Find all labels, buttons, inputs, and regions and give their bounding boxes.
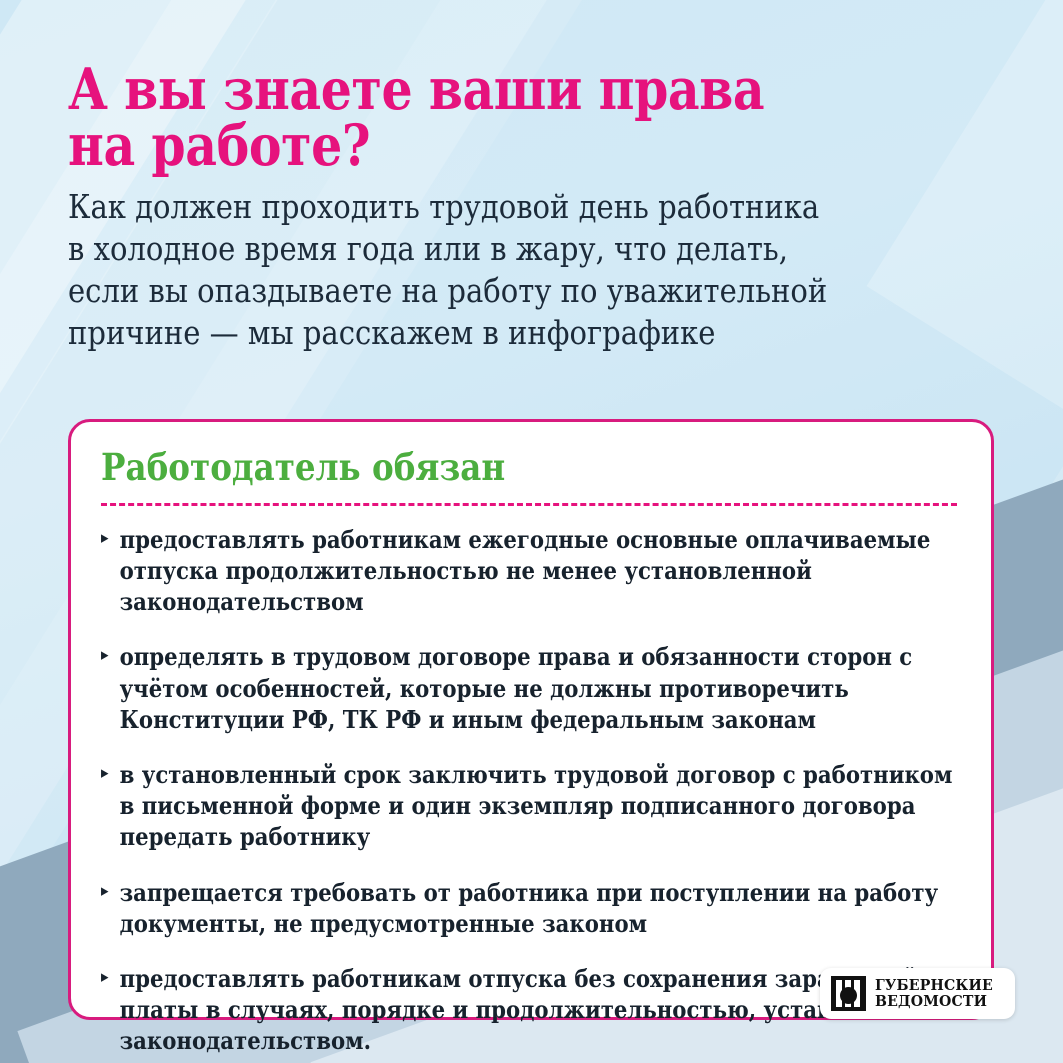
triangle-bullet-icon: ▸ bbox=[101, 963, 109, 993]
list-item-text: предоставлять работникам ежегодные основ… bbox=[120, 525, 931, 616]
card-heading: Работодатель обязан bbox=[101, 448, 858, 487]
poster-header: А вы знаете ваши права на работе? Как до… bbox=[68, 62, 988, 355]
triangle-bullet-icon: ▸ bbox=[101, 759, 109, 789]
publisher-logo-text: ГУБЕРНСКИЕ ВЕДОМОСТИ bbox=[875, 978, 993, 1010]
list-item-text: в установленный срок заключить трудовой … bbox=[120, 760, 953, 851]
list-item: ▸ в установленный срок заключить трудово… bbox=[101, 759, 972, 853]
dashed-divider bbox=[101, 503, 957, 506]
content-card: Работодатель обязан ▸ предоставлять рабо… bbox=[68, 419, 994, 1020]
publisher-logo-line2: ВЕДОМОСТИ bbox=[875, 994, 993, 1010]
publisher-logo: ГУБЕРНСКИЕ ВЕДОМОСТИ bbox=[820, 968, 1015, 1019]
infographic-poster: А вы знаете ваши права на работе? Как до… bbox=[0, 0, 1063, 1063]
list-item-text: запрещается требовать от работника при п… bbox=[120, 878, 938, 938]
page-subtitle: Как должен проходить трудовой день работ… bbox=[68, 186, 878, 355]
content-card-inner: Работодатель обязан ▸ предоставлять рабо… bbox=[71, 422, 991, 1063]
triangle-bullet-icon: ▸ bbox=[101, 877, 109, 907]
page-title: А вы знаете ваши права на работе? bbox=[68, 62, 859, 174]
list-item: ▸ определять в трудовом договоре права и… bbox=[101, 641, 972, 735]
triangle-bullet-icon: ▸ bbox=[101, 524, 109, 554]
newspaper-emblem-icon bbox=[831, 976, 866, 1011]
triangle-bullet-icon: ▸ bbox=[101, 641, 109, 671]
list-item: ▸ предоставлять работникам ежегодные осн… bbox=[101, 524, 972, 618]
list-item-text: определять в трудовом договоре права и о… bbox=[120, 642, 913, 733]
list-item: ▸ запрещается требовать от работника при… bbox=[101, 877, 972, 939]
